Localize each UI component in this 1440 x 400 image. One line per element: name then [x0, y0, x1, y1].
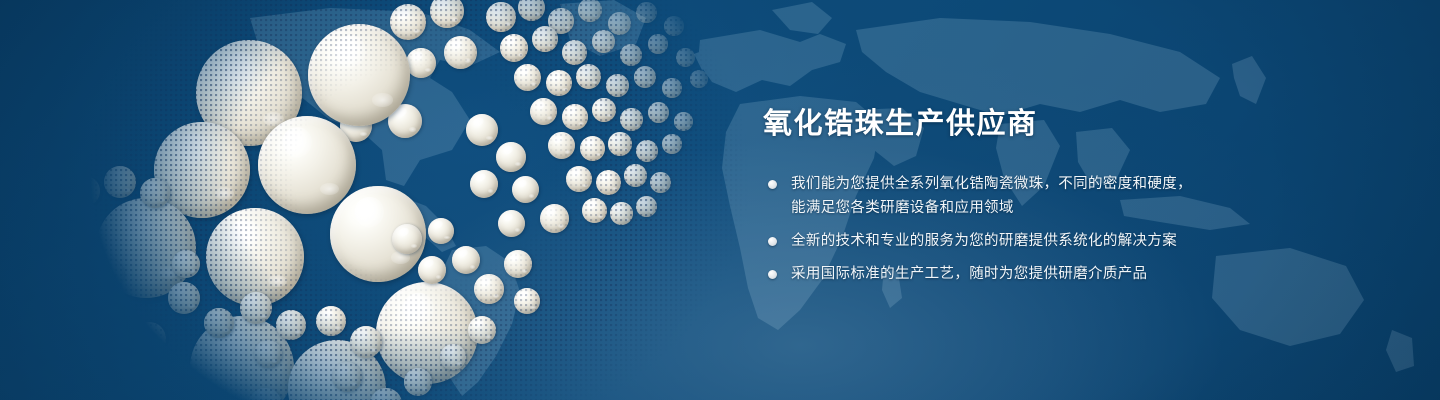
bead [168, 282, 200, 314]
list-item: 我们能为您提供全系列氧化锆陶瓷微珠，不同的密度和硬度， 能满足您各类研磨设备和应… [763, 172, 1323, 220]
bead [650, 172, 671, 193]
feature-text-line1: 全新的技术和专业的服务为您的研磨提供系统化的解决方案 [791, 233, 1177, 249]
bead [486, 2, 516, 32]
feature-text-line1: 我们能为您提供全系列氧化锆陶瓷微珠，不同的密度和硬度， [791, 176, 1192, 192]
bead [518, 0, 545, 21]
bead [430, 0, 464, 28]
banner-content: 氧化锆珠生产供应商 我们能为您提供全系列氧化锆陶瓷微珠，不同的密度和硬度， 能满… [763, 104, 1323, 286]
bead [606, 74, 629, 97]
bead [308, 24, 410, 126]
bead [36, 222, 68, 254]
bead [62, 308, 94, 340]
bead [498, 210, 525, 237]
bead [428, 218, 454, 244]
bead [592, 98, 616, 122]
bead [532, 26, 558, 52]
feature-text-line1: 采用国际标准的生产工艺，随时为您提供研磨介质产品 [791, 266, 1147, 282]
bead [676, 48, 695, 67]
bead [674, 112, 693, 131]
bead [316, 306, 346, 336]
bead [96, 260, 124, 288]
bead [582, 198, 607, 223]
bead [596, 170, 621, 195]
list-item: 全新的技术和专业的服务为您的研磨提供系统化的解决方案 [763, 229, 1323, 253]
bead [104, 166, 136, 198]
bead [608, 132, 632, 156]
bead [548, 132, 575, 159]
bead [132, 322, 166, 356]
bead [406, 48, 436, 78]
bead [662, 134, 682, 154]
bead [562, 104, 588, 130]
bead [332, 362, 362, 392]
bead [690, 70, 708, 88]
bead [440, 344, 466, 370]
bead [636, 196, 657, 217]
page-title: 氧化锆珠生产供应商 [763, 104, 1323, 144]
bead [452, 246, 480, 274]
bead [664, 16, 684, 36]
bead [500, 34, 528, 62]
bead [276, 310, 306, 340]
bead [70, 176, 100, 206]
bead [140, 178, 170, 208]
bead [418, 256, 446, 284]
bead [608, 12, 631, 35]
bead-cluster [0, 0, 760, 400]
feature-text-line2: 能满足您各类研磨设备和应用领域 [791, 196, 1323, 220]
bullet-dot-icon [768, 237, 777, 246]
bead [172, 250, 200, 278]
bead [512, 176, 539, 203]
bead [540, 204, 569, 233]
bead [100, 342, 130, 372]
bead [240, 292, 272, 324]
bead [98, 298, 131, 331]
zirconia-beads-photo [0, 0, 760, 400]
bead [648, 102, 669, 123]
bead [636, 2, 657, 23]
bullet-dot-icon [768, 270, 777, 279]
bead [634, 66, 656, 88]
bead [546, 70, 572, 96]
bead [566, 166, 592, 192]
bead [204, 308, 234, 338]
bead [470, 170, 498, 198]
bead [444, 36, 477, 69]
bead [636, 140, 658, 162]
bead [610, 202, 633, 225]
bead [648, 34, 668, 54]
bead [496, 142, 526, 172]
bead [624, 164, 647, 187]
bead [404, 368, 432, 396]
bead [474, 274, 504, 304]
hero-banner: 氧化锆珠生产供应商 我们能为您提供全系列氧化锆陶瓷微珠，不同的密度和硬度， 能满… [0, 0, 1440, 400]
bead [30, 294, 60, 324]
feature-list: 我们能为您提供全系列氧化锆陶瓷微珠，不同的密度和硬度， 能满足您各类研磨设备和应… [763, 172, 1323, 286]
bead [466, 114, 498, 146]
bead [592, 30, 615, 53]
bead [390, 4, 426, 40]
bullet-dot-icon [768, 180, 777, 189]
bead [580, 136, 605, 161]
bead [514, 288, 540, 314]
bead [140, 362, 172, 394]
bead [504, 250, 532, 278]
list-item: 采用国际标准的生产工艺，随时为您提供研磨介质产品 [763, 262, 1323, 286]
bead [514, 64, 541, 91]
bead [60, 260, 94, 294]
bead [578, 0, 602, 22]
bead [376, 282, 478, 384]
bead [468, 316, 496, 344]
bead [258, 116, 356, 214]
bead [530, 98, 557, 125]
bead [576, 64, 601, 89]
bead [620, 108, 643, 131]
bead [350, 326, 382, 358]
bead [254, 340, 282, 368]
bead [562, 40, 587, 65]
bead [662, 78, 682, 98]
bead [392, 224, 422, 254]
bead [620, 44, 642, 66]
